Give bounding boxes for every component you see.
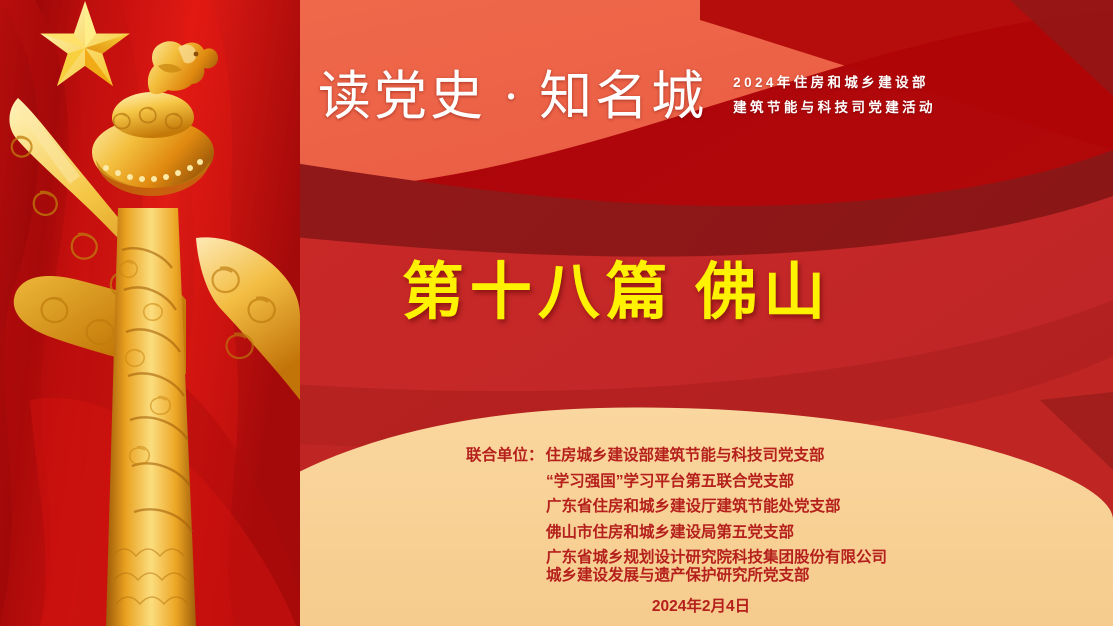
credit-org-2: “学习强国”学习平台第五联合党支部	[546, 473, 794, 490]
credit-line-3: 广东省住房和城乡建设厅建筑节能处党支部	[466, 499, 887, 515]
poster-root: 读党史 · 知名城 2024年住房和城乡建设部 建筑节能与科技司党建活动 第十八…	[0, 0, 1113, 626]
credit-line-5: 广东省城乡规划设计研究院科技集团股份有限公司	[466, 550, 887, 566]
header-title-block: 读党史 · 知名城 2024年住房和城乡建设部 建筑节能与科技司党建活动	[318, 70, 936, 126]
credit-line-6: 城乡建设发展与遗产保护研究所党支部	[466, 568, 887, 584]
header-subtitle: 2024年住房和城乡建设部 建筑节能与科技司党建活动	[733, 71, 936, 126]
credit-line-4: 佛山市住房和城乡建设局第五党支部	[466, 525, 887, 541]
credit-org-4: 佛山市住房和城乡建设局第五党支部	[546, 524, 794, 541]
credit-org-6: 城乡建设发展与遗产保护研究所党支部	[546, 567, 810, 584]
credit-org-3: 广东省住房和城乡建设厅建筑节能处党支部	[546, 498, 841, 515]
credit-line-1: 联合单位：住房城乡建设部建筑节能与科技司党支部	[466, 448, 887, 464]
event-date: 2024年2月4日	[466, 594, 936, 616]
chapter-heading: 第十八篇 佛山	[0, 262, 1113, 324]
credit-org-1: 住房城乡建设部建筑节能与科技司党支部	[546, 447, 825, 464]
credit-org-5: 广东省城乡规划设计研究院科技集团股份有限公司	[546, 549, 887, 566]
page-title: 读党史 · 知名城	[318, 70, 707, 126]
credits-label: 联合单位：	[466, 447, 544, 464]
credit-line-2: “学习强国”学习平台第五联合党支部	[466, 474, 887, 490]
subtitle-line-2: 建筑节能与科技司党建活动	[733, 96, 936, 121]
credits-block: 联合单位：住房城乡建设部建筑节能与科技司党支部 “学习强国”学习平台第五联合党支…	[466, 448, 887, 593]
subtitle-line-1: 2024年住房和城乡建设部	[733, 71, 936, 96]
